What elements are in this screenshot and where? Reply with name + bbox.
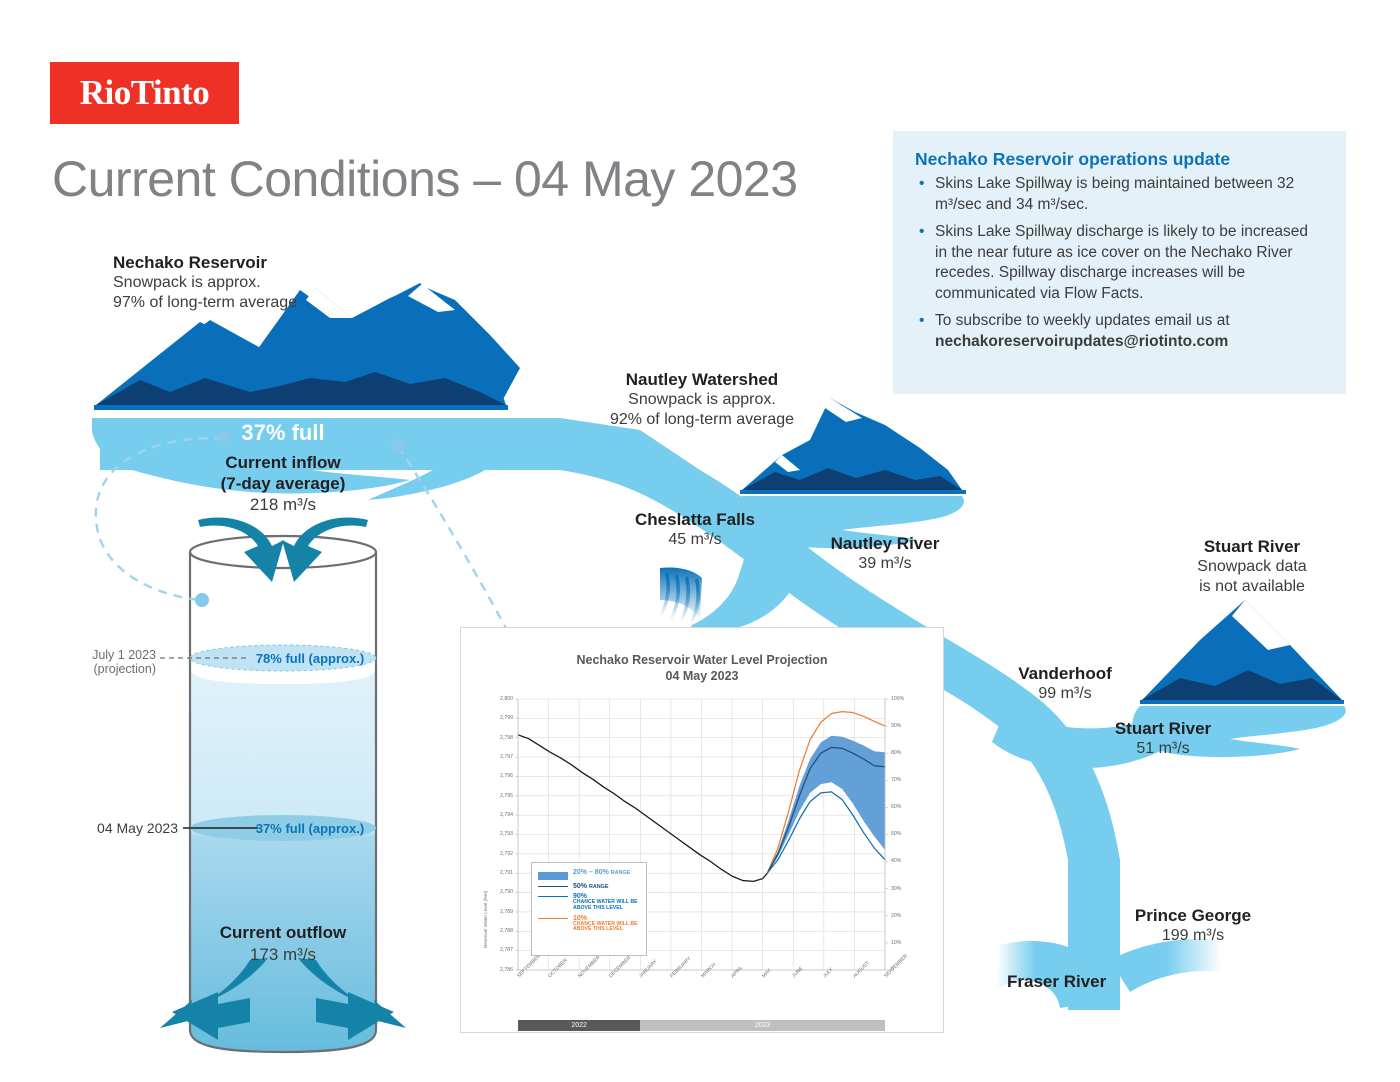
- flow-value: 45 m³/s: [600, 530, 790, 550]
- chart-legend-swatch: [538, 896, 568, 897]
- flow-name: Cheslatta Falls: [600, 509, 790, 530]
- watershed-line2: 92% of long-term average: [592, 410, 812, 430]
- chart-legend-swatch: [538, 872, 568, 880]
- chart-year-band: 2023: [640, 1020, 885, 1031]
- chart-y-tick: 2,794: [487, 812, 513, 818]
- flow-label-stuart-river: Stuart River 51 m³/s: [1068, 718, 1258, 759]
- chart-legend-label: 90%CHANCE WATER WILL BE ABOVE THIS LEVEL: [573, 893, 640, 912]
- projection-level-label: 78% full (approx.): [230, 651, 390, 666]
- bullet-icon: •: [919, 222, 924, 243]
- flow-label-prince-george: Prince George 199 m³/s: [1098, 905, 1288, 946]
- chart-y-tick: 2,786: [487, 967, 513, 973]
- watershed-line1: Snowpack data: [1142, 557, 1362, 577]
- operations-bullet-3: • To subscribe to weekly updates email u…: [915, 311, 1324, 352]
- chart-y2-tick: 30%: [891, 886, 917, 892]
- projection-date: July 1 2023: [40, 648, 156, 662]
- chart-y2-tick: 50%: [891, 831, 917, 837]
- watershed-name: Nechako Reservoir: [113, 252, 297, 273]
- flow-value: 39 m³/s: [790, 554, 980, 574]
- chart-y-tick: 2,791: [487, 870, 513, 876]
- water-level-projection-chart: Nechako Reservoir Water Level Projection…: [460, 627, 944, 1033]
- chart-y2-tick: 60%: [891, 804, 917, 810]
- reservoir-full-badge: 37% full: [188, 420, 378, 446]
- inflow-label-line2: (7-day average): [183, 473, 383, 494]
- watershed-line2: is not available: [1142, 577, 1362, 597]
- chart-y2-tick: 10%: [891, 940, 917, 946]
- flow-label-cheslatta-falls: Cheslatta Falls 45 m³/s: [600, 509, 790, 550]
- operations-update-heading: Nechako Reservoir operations update: [915, 149, 1324, 170]
- watershed-line2: 97% of long-term average: [113, 293, 297, 313]
- bullet-text: Skins Lake Spillway discharge is likely …: [935, 223, 1308, 302]
- chart-plot-area: 2,8002,7992,7982,7972,7962,7952,7942,793…: [461, 628, 943, 1032]
- chart-y-tick: 2,795: [487, 793, 513, 799]
- chart-legend-swatch: [538, 918, 568, 919]
- flow-label-nautley-river: Nautley River 39 m³/s: [790, 533, 980, 574]
- inflow-label-line1: Current inflow: [183, 452, 383, 473]
- chart-y2-tick: 100%: [891, 696, 917, 702]
- river-fraser-right: [1110, 939, 1222, 992]
- bullet-icon: •: [919, 174, 924, 195]
- watershed-label-stuart: Stuart River Snowpack data is not availa…: [1142, 536, 1362, 597]
- chart-y-tick: 2,790: [487, 889, 513, 895]
- flow-name: Prince George: [1098, 905, 1288, 926]
- chart-y-tick: 2,788: [487, 928, 513, 934]
- chart-y2-tick: 90%: [891, 723, 917, 729]
- chart-year-band: 2022: [518, 1020, 640, 1031]
- chart-legend-label: 50% RANGE: [573, 883, 608, 890]
- chart-legend-swatch: [538, 886, 568, 887]
- chart-y-tick: 2,793: [487, 831, 513, 837]
- watershed-label-nautley: Nautley Watershed Snowpack is approx. 92…: [592, 369, 812, 430]
- projection-note: (projection): [40, 662, 156, 676]
- chart-y-tick: 2,797: [487, 754, 513, 760]
- page-title: Current Conditions – 04 May 2023: [52, 150, 798, 208]
- current-level-label: 37% full (approx.): [230, 821, 390, 836]
- chart-y-tick: 2,799: [487, 715, 513, 721]
- bullet-icon: •: [919, 311, 924, 332]
- watershed-label-nechako: Nechako Reservoir Snowpack is approx. 97…: [113, 252, 297, 313]
- full-badge-text: 37% full: [241, 420, 324, 445]
- chart-y2-tick: 40%: [891, 858, 917, 864]
- callout-dot-2: [195, 593, 209, 607]
- chart-legend-label: 10%CHANCE WATER WILL BE ABOVE THIS LEVEL: [573, 915, 640, 934]
- chart-y-tick: 2,796: [487, 773, 513, 779]
- operations-update-box: Nechako Reservoir operations update • Sk…: [893, 131, 1346, 394]
- flow-name: Stuart River: [1068, 718, 1258, 739]
- stuart-shoreline: [1140, 700, 1344, 704]
- chart-y-tick: 2,798: [487, 735, 513, 741]
- current-date-label: 04 May 2023: [40, 820, 178, 836]
- reservoir-outflow-label: Current outflow 173 m³/s: [183, 922, 383, 966]
- watershed-line1: Snowpack is approx.: [113, 273, 297, 293]
- chart-y2-tick: 80%: [891, 750, 917, 756]
- nechako-shoreline: [94, 405, 508, 410]
- chart-y-tick: 2,789: [487, 909, 513, 915]
- inflow-value: 218 m³/s: [183, 494, 383, 516]
- riotinto-logo: RioTinto: [50, 62, 239, 124]
- watershed-name: Nautley Watershed: [592, 369, 812, 390]
- reservoir-inflow-label: Current inflow (7-day average) 218 m³/s: [183, 452, 383, 516]
- chart-legend-item: 50% RANGE: [538, 883, 640, 890]
- watershed-name: Stuart River: [1142, 536, 1362, 557]
- outflow-label: Current outflow: [183, 922, 383, 944]
- operations-bullet-1: • Skins Lake Spillway is being maintaine…: [915, 174, 1324, 215]
- flow-name: Fraser River: [1007, 971, 1106, 992]
- watershed-line1: Snowpack is approx.: [592, 390, 812, 410]
- flow-label-vanderhoof: Vanderhoof 99 m³/s: [970, 663, 1160, 704]
- outflow-value: 173 m³/s: [183, 944, 383, 966]
- chart-y-tick: 2,787: [487, 947, 513, 953]
- chart-y2-tick: 70%: [891, 777, 917, 783]
- bullet-text: To subscribe to weekly updates email us …: [935, 312, 1230, 329]
- flow-name: Nautley River: [790, 533, 980, 554]
- flow-value: 51 m³/s: [1068, 739, 1258, 759]
- flow-value: 199 m³/s: [1098, 926, 1288, 946]
- operations-bullet-2: • Skins Lake Spillway discharge is likel…: [915, 222, 1324, 304]
- callout-dot-3: [391, 439, 405, 453]
- chart-band-20-80: [767, 736, 885, 874]
- operations-update-list: • Skins Lake Spillway is being maintaine…: [915, 174, 1324, 352]
- chart-legend-label: 20% – 80% RANGE: [573, 869, 630, 876]
- chart-legend: 20% – 80% RANGE50% RANGE90%CHANCE WATER …: [531, 862, 647, 956]
- flow-name: Vanderhoof: [970, 663, 1160, 684]
- bullet-text: Skins Lake Spillway is being maintained …: [935, 175, 1294, 213]
- chart-legend-item: 20% – 80% RANGE: [538, 869, 640, 880]
- reservoir-cylinder: [160, 536, 376, 1052]
- chart-y2-tick: 20%: [891, 913, 917, 919]
- flow-value: 99 m³/s: [970, 684, 1160, 704]
- subscribe-email[interactable]: nechakoreservoirupdates@riotinto.com: [935, 333, 1228, 350]
- logo-text: RioTinto: [80, 73, 210, 113]
- chart-y-tick: 2,800: [487, 696, 513, 702]
- flow-label-fraser-river: Fraser River: [1007, 971, 1106, 992]
- chart-legend-item: 90%CHANCE WATER WILL BE ABOVE THIS LEVEL: [538, 893, 640, 912]
- nautley-shoreline: [740, 490, 966, 494]
- projection-date-label: July 1 2023 (projection): [40, 648, 156, 676]
- cheslatta-falls-icon: [660, 567, 702, 624]
- chart-y-tick: 2,792: [487, 851, 513, 857]
- chart-legend-item: 10%CHANCE WATER WILL BE ABOVE THIS LEVEL: [538, 915, 640, 934]
